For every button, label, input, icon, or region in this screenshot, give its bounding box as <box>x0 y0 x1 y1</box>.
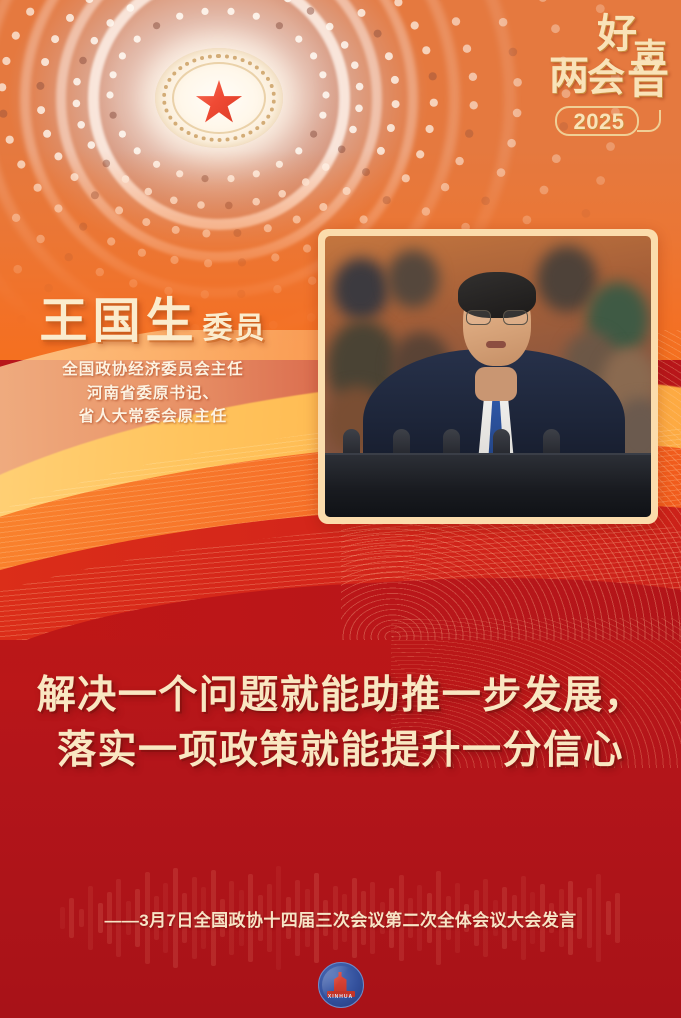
quote-block: 解决一个问题就能助推一步发展， 落实一项政策就能提升一分信心 <box>0 668 681 779</box>
glasses-icon <box>466 310 528 325</box>
speaker-title-3: 省人大常委会原主任 <box>0 405 306 429</box>
logo-char-yin: 音 <box>627 58 669 100</box>
speaker-title-2: 河南省委原书记、 <box>0 382 306 406</box>
glasses-lens-right <box>503 310 528 325</box>
logo-char-hao: 好 <box>597 14 637 54</box>
caption-text: ——3月7日全国政协十四届三次会议第二次全体会议大会发言 <box>104 911 576 930</box>
name-row: 王国生 委员 <box>0 298 306 346</box>
speaker-photo <box>325 236 651 517</box>
quote-line-2: 落实一项政策就能提升一分信心 <box>0 723 681 778</box>
logo-year-badge: 2025 <box>555 106 639 136</box>
glasses-lens-left <box>466 310 491 325</box>
logo-year-text: 2025 <box>557 108 641 134</box>
speaker-titles: 全国政协经济委员会主任 河南省委原书记、 省人大常委会原主任 <box>0 358 306 429</box>
xinhua-news-agency-logo-icon: XINHUA <box>318 962 364 1008</box>
logo-char-liang: 两 <box>549 56 589 96</box>
speaker-title-1: 全国政协经济委员会主任 <box>0 358 306 382</box>
speaker-role: 委员 <box>203 314 267 346</box>
speaker-name: 王国生 <box>39 298 198 346</box>
speaker-name-block: 王国生 委员 全国政协经济委员会主任 河南省委原书记、 省人大常委会原主任 <box>0 298 306 429</box>
audience-blur-3 <box>387 250 439 308</box>
speaker-neck <box>475 367 517 401</box>
podium <box>325 455 651 517</box>
speaker-photo-frame <box>318 229 658 524</box>
program-logo: 好 声 两 会 音 2025 <box>553 14 669 142</box>
quote-line-1: 解决一个问题就能助推一步发展， <box>0 668 681 723</box>
logo-badge-tail <box>637 110 661 132</box>
poster-root: 好 声 两 会 音 2025 <box>0 0 681 1018</box>
speaker-mouth <box>486 341 506 348</box>
caption-block: ——3月7日全国政协十四届三次会议第二次全体会议大会发言 <box>0 906 681 931</box>
xinhua-sheen <box>322 966 360 1004</box>
logo-char-hui: 会 <box>587 60 625 98</box>
audience-blur-4 <box>537 246 597 312</box>
audience-blur-1 <box>333 258 389 320</box>
